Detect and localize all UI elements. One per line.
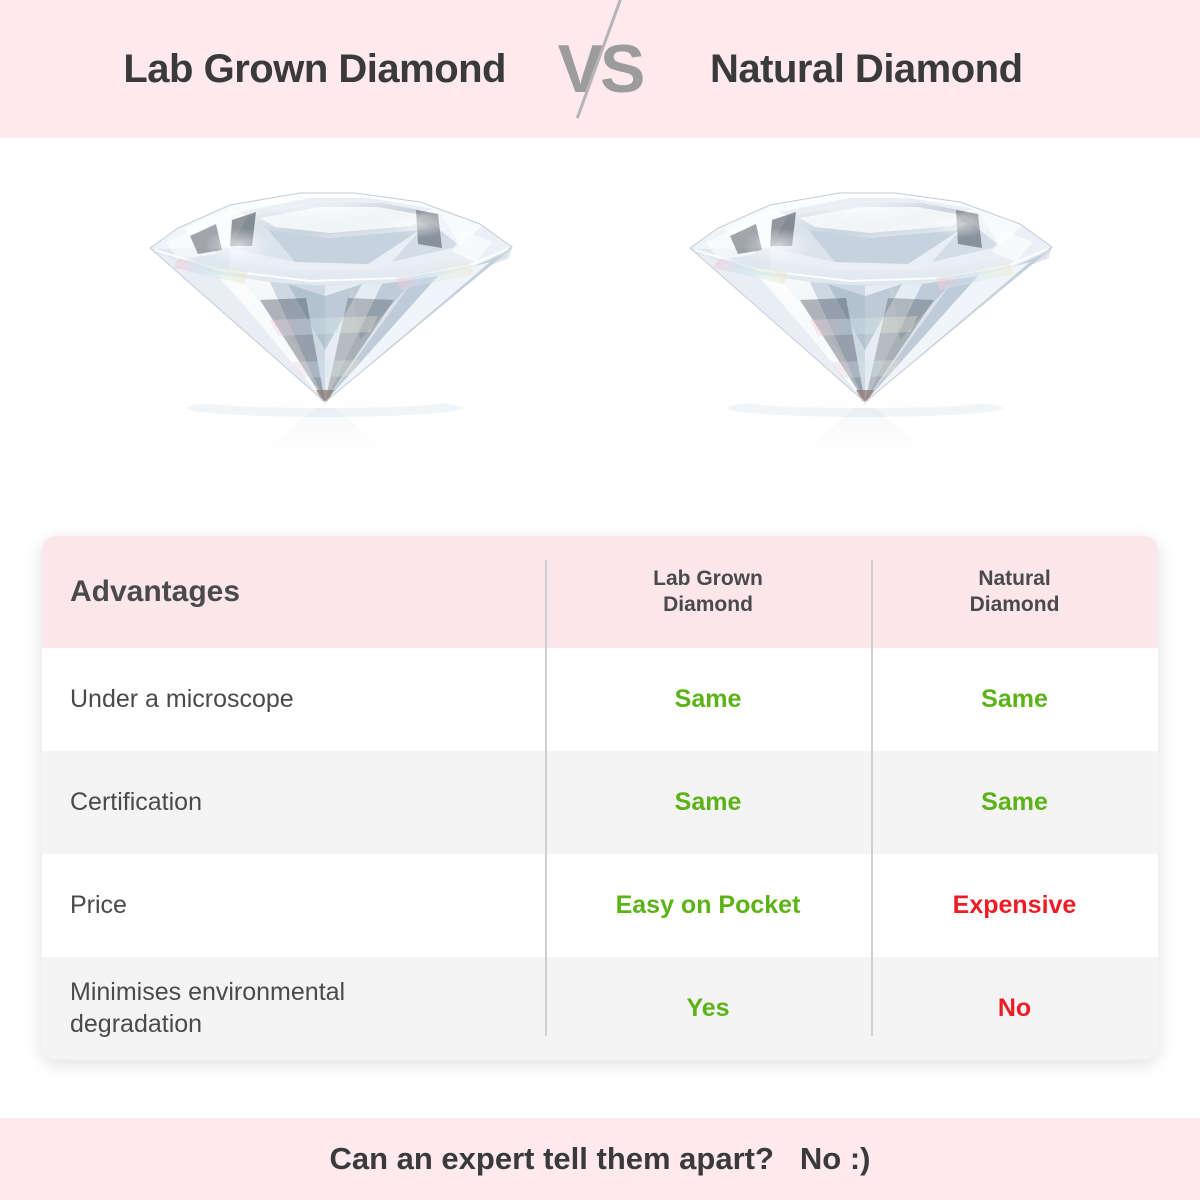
column-divider-2	[871, 560, 873, 1036]
header-natural: Natural Diamond	[871, 536, 1158, 648]
table-row: Minimises environmental degradation Yes …	[42, 957, 1158, 1060]
table-row: Certification Same Same	[42, 751, 1158, 854]
natural-diamond-image	[660, 150, 1080, 480]
footer-question: Can an expert tell them apart?	[329, 1141, 773, 1177]
header-natural-line1: Natural	[978, 567, 1050, 590]
lab-grown-diamond-image	[120, 150, 540, 480]
table-row: Price Easy on Pocket Expensive	[42, 854, 1158, 957]
row-lab-grown-value: Yes	[545, 957, 871, 1060]
diamond-gallery	[0, 138, 1200, 530]
comparison-table-card: Advantages Lab Grown Diamond Natural Dia…	[42, 536, 1158, 1060]
natural-heading: Natural Diamond	[660, 47, 1160, 92]
row-feature-line1: Minimises environmental	[70, 978, 345, 1006]
header-lab-grown-line1: Lab Grown	[653, 567, 763, 590]
footer-text: Can an expert tell them apart? No :)	[329, 1141, 870, 1177]
table-header-row: Advantages Lab Grown Diamond Natural Dia…	[42, 536, 1158, 648]
row-lab-grown-value: Same	[545, 648, 871, 751]
comparison-table: Advantages Lab Grown Diamond Natural Dia…	[42, 536, 1158, 1060]
header-natural-line2: Diamond	[970, 593, 1060, 616]
column-divider-1	[545, 560, 547, 1036]
top-title-banner: Lab Grown Diamond VS Natural Diamond	[0, 0, 1200, 138]
header-advantages: Advantages	[42, 536, 545, 648]
row-natural-value: Same	[871, 648, 1158, 751]
lab-grown-heading: Lab Grown Diamond	[40, 47, 540, 92]
bottom-question-banner: Can an expert tell them apart? No :)	[0, 1118, 1200, 1200]
row-feature-line2: degradation	[70, 1010, 202, 1038]
row-feature: Price	[42, 854, 545, 957]
row-natural-value: Expensive	[871, 854, 1158, 957]
row-feature: Under a microscope	[42, 648, 545, 751]
row-feature: Minimises environmental degradation	[42, 957, 545, 1060]
row-natural-value: Same	[871, 751, 1158, 854]
header-lab-grown: Lab Grown Diamond	[545, 536, 871, 648]
title-row: Lab Grown Diamond VS Natural Diamond	[0, 4, 1200, 134]
footer-answer: No :)	[800, 1141, 871, 1177]
row-lab-grown-value: Same	[545, 751, 871, 854]
vs-label: VS	[558, 35, 643, 103]
row-feature: Certification	[42, 751, 545, 854]
header-lab-grown-line2: Diamond	[663, 593, 753, 616]
row-lab-grown-value: Easy on Pocket	[545, 854, 871, 957]
table-row: Under a microscope Same Same	[42, 648, 1158, 751]
row-natural-value: No	[871, 957, 1158, 1060]
versus-badge: VS	[540, 4, 660, 134]
